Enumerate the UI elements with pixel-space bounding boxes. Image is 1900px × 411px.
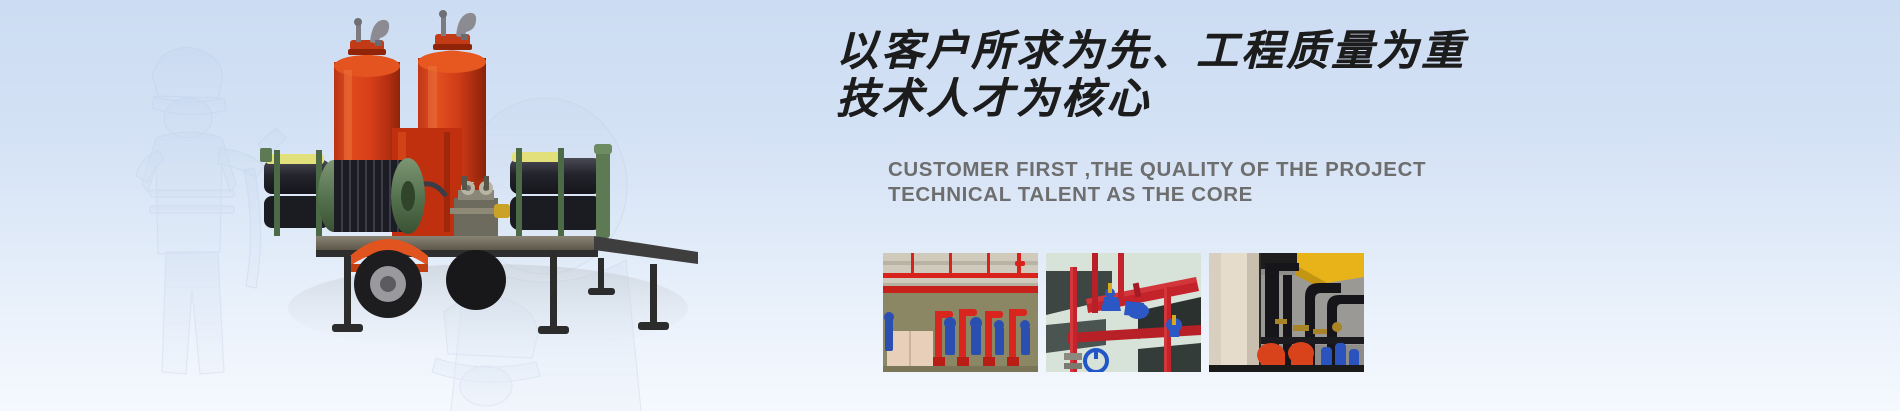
subheadline-line-1: CUSTOMER FIRST ,THE QUALITY OF THE PROJE… bbox=[888, 157, 1426, 183]
headline-line-2: 技术人才为核心 bbox=[836, 74, 1151, 126]
headline-line-1: 以客户所求为先、工程质量为重 bbox=[836, 26, 1466, 78]
thumbnail-strip bbox=[883, 253, 1364, 372]
product-photo-trailer-fire-pump bbox=[258, 8, 738, 360]
hero-banner: 以客户所求为先、工程质量为重 技术人才为核心 CUSTOMER FIRST ,T… bbox=[0, 0, 1900, 411]
thumbnail-red-standpipe-stairwell[interactable] bbox=[1046, 253, 1201, 372]
thumbnail-pump-room-boiler-equipment[interactable] bbox=[1209, 253, 1364, 372]
subheadline-line-2: TECHNICAL TALENT AS THE CORE bbox=[888, 182, 1253, 208]
thumbnail-red-sprinkler-riser-manifold[interactable] bbox=[883, 253, 1038, 372]
